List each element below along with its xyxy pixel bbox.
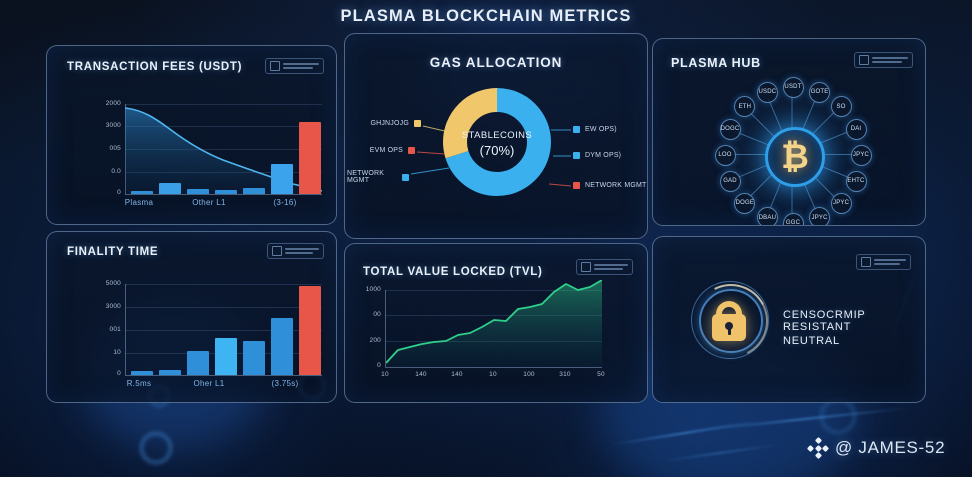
finality-bars xyxy=(125,284,322,375)
x-tick-label: 140 xyxy=(411,371,431,378)
hub-node-label: LOO xyxy=(718,152,731,158)
hub-node[interactable]: SO xyxy=(831,96,852,117)
hub-node-label: GAD xyxy=(723,178,737,184)
hub-node-label: DOGE xyxy=(736,200,754,206)
x-axis xyxy=(385,367,602,368)
hub-node[interactable]: EHTC xyxy=(846,171,867,192)
bar xyxy=(271,164,293,194)
legend-swatch xyxy=(402,174,409,181)
finality-time-title: FINALITY TIME xyxy=(67,246,158,258)
badge-lines xyxy=(283,63,319,69)
finality-time-badge[interactable] xyxy=(267,243,324,259)
tvl-title: TOTAL VALUE LOCKED (TVL) xyxy=(363,266,543,278)
y-tick-label: 0.0 xyxy=(87,168,121,175)
chart-badge-icon xyxy=(270,61,280,71)
x-tick-label: 100 xyxy=(519,371,539,378)
badge-lines xyxy=(874,259,906,265)
chart-badge-icon xyxy=(859,55,869,65)
bitcoin-icon: ₿ xyxy=(781,140,809,174)
transaction-fees-title: TRANSACTION FEES (USDT) xyxy=(67,61,242,73)
legend-label: EW OPS) xyxy=(585,126,617,133)
chart-badge-icon xyxy=(272,246,282,256)
bar xyxy=(159,370,181,375)
panel-transaction-fees: TRANSACTION FEES (USDT) 2000 3000 005 0.… xyxy=(46,45,337,225)
plasma-hub-title: PLASMA HUB xyxy=(671,56,761,70)
lock-graphic xyxy=(691,281,767,357)
legend-swatch xyxy=(408,147,415,154)
tvl-badge[interactable] xyxy=(576,259,633,275)
bg-ring xyxy=(820,398,856,434)
hub-node-label: USDT xyxy=(784,84,801,90)
badge-lines xyxy=(594,264,628,270)
legend-item-left[interactable]: NETWORK MGMT xyxy=(347,170,409,184)
bar xyxy=(299,122,321,194)
x-tick-label: Other L1 xyxy=(179,198,239,207)
bg-streak xyxy=(611,420,759,445)
y-tick-label: 00 xyxy=(351,311,381,318)
badge-lines xyxy=(872,57,908,63)
legend-label: GHJNJOJG xyxy=(370,120,409,127)
bar xyxy=(243,341,265,375)
y-tick-label: 001 xyxy=(87,326,121,333)
bar xyxy=(215,338,237,375)
bar xyxy=(215,190,237,194)
legend-label: DYM OPS) xyxy=(585,152,621,159)
y-tick-label: 2000 xyxy=(87,100,121,107)
tvl-area-chart xyxy=(386,280,602,367)
bar xyxy=(159,183,181,194)
x-axis xyxy=(125,375,322,376)
bar xyxy=(299,286,321,375)
y-tick-label: 0 xyxy=(351,362,381,369)
legend-item-right[interactable]: NETWORK MGMT xyxy=(573,182,647,189)
legend-swatch xyxy=(573,126,580,133)
hub-node-label: GOTE xyxy=(811,89,829,95)
hub-node[interactable]: GGC xyxy=(783,213,804,227)
y-tick-label: 5000 xyxy=(87,280,121,287)
hub-node[interactable]: DOGE xyxy=(734,193,755,214)
hub-node[interactable]: LOO xyxy=(715,145,736,166)
hub-node-label: GGC xyxy=(786,220,800,226)
hub-node-label: DAI xyxy=(851,126,862,132)
security-line-2: NEUTRAL xyxy=(783,335,840,347)
x-axis xyxy=(125,194,322,195)
y-tick-label: 0 xyxy=(87,189,121,196)
page-title: PLASMA BLOCKCHAIN METRICS xyxy=(0,7,972,26)
hub-node[interactable]: DBAU xyxy=(757,207,778,226)
watermark: @ JAMES-52 xyxy=(808,438,945,458)
hub-node[interactable]: JPYC xyxy=(831,193,852,214)
panel-finality-time: FINALITY TIME 5000 3000 001 10 0 R.5ms xyxy=(46,231,337,403)
dashboard-root: PLASMA BLOCKCHAIN METRICS TRANSACTION FE… xyxy=(0,0,972,477)
legend-label: NETWORK MGMT xyxy=(347,170,397,184)
hub-node[interactable]: DAI xyxy=(846,119,867,140)
hub-node-label: JPYC xyxy=(833,200,849,206)
hub-node-label: ETH xyxy=(739,104,752,110)
hub-node-label: USDC xyxy=(758,89,776,95)
x-tick-label: Oher L1 xyxy=(179,379,239,388)
hub-node[interactable]: JPYC xyxy=(809,207,830,226)
legend-swatch xyxy=(573,152,580,159)
x-tick-label: 10 xyxy=(375,371,395,378)
y-tick-label: 0 xyxy=(87,370,121,377)
legend-item-right[interactable]: EW OPS) xyxy=(573,126,617,133)
hub-node-label: EHTC xyxy=(847,178,864,184)
hub-node[interactable]: DOGC xyxy=(720,119,741,140)
y-tick-label: 3000 xyxy=(87,303,121,310)
bar xyxy=(131,191,153,194)
x-tick-label: 310 xyxy=(555,371,575,378)
x-tick-label: Plasma xyxy=(109,198,169,207)
legend-swatch xyxy=(414,120,421,127)
panel-security: CENSOCRMIP RESISTANT NEUTRAL xyxy=(652,236,926,403)
legend-label: NETWORK MGMT xyxy=(585,182,647,189)
bar xyxy=(187,351,209,375)
legend-label: EVM OPS xyxy=(370,147,403,154)
hub-node[interactable]: GAD xyxy=(720,171,741,192)
legend-leader-lines xyxy=(345,34,647,238)
fee-bars xyxy=(125,104,322,194)
legend-item-left[interactable]: EVM OPS xyxy=(359,147,415,154)
bar xyxy=(187,189,209,194)
bar xyxy=(271,318,293,375)
legend-swatch xyxy=(573,182,580,189)
legend-item-left[interactable]: GHJNJOJG xyxy=(359,120,421,127)
x-tick-label: 10 xyxy=(483,371,503,378)
security-line-1: CENSOCRMIP RESISTANT xyxy=(783,309,925,333)
watermark-handle: @ JAMES-52 xyxy=(835,438,945,458)
bitcoin-hub-center[interactable]: ₿ xyxy=(765,127,825,187)
binance-diamond-icon xyxy=(808,438,828,458)
hub-node-label: DOGC xyxy=(721,126,740,132)
hub-node[interactable]: GOTE xyxy=(809,82,830,103)
hub-node[interactable]: USDC xyxy=(757,82,778,103)
chart-badge-icon xyxy=(581,262,591,272)
security-badge[interactable] xyxy=(856,254,911,270)
x-tick-label: (3.75s) xyxy=(255,379,315,388)
bg-streak xyxy=(660,444,779,463)
hub-node-label: DBAU xyxy=(759,215,776,221)
panel-gas-allocation: GAS ALLOCATION STABLECOINS (70%) GHJNJOJ… xyxy=(344,33,648,239)
x-tick-label: (3-16) xyxy=(255,198,315,207)
badge-lines xyxy=(285,248,319,254)
bar xyxy=(131,371,153,375)
hub-node-label: JPYC xyxy=(853,152,869,158)
chart-badge-icon xyxy=(861,257,871,267)
hub-node[interactable]: JPYC xyxy=(851,145,872,166)
x-tick-label: 50 xyxy=(591,371,611,378)
x-tick-label: R.5ms xyxy=(109,379,169,388)
panel-tvl: TOTAL VALUE LOCKED (TVL) 1000 00 200 0 xyxy=(344,243,648,403)
y-tick-label: 10 xyxy=(87,349,121,356)
y-tick-label: 005 xyxy=(87,145,121,152)
transaction-fees-badge[interactable] xyxy=(265,58,324,74)
legend-item-right[interactable]: DYM OPS) xyxy=(573,152,621,159)
bg-streak xyxy=(700,407,909,431)
hub-node-label: JPYC xyxy=(812,215,828,221)
bar xyxy=(243,188,265,194)
lock-keyhole-stem xyxy=(728,327,731,335)
hub-node[interactable]: USDT xyxy=(783,77,804,98)
panel-plasma-hub: PLASMA HUB USDT GOTE SO DAI JPYC EHTC xyxy=(652,38,926,226)
bg-ring xyxy=(140,432,172,464)
y-tick-label: 200 xyxy=(351,337,381,344)
hub-node-label: SO xyxy=(837,104,846,110)
y-tick-label: 3000 xyxy=(87,122,121,129)
plasma-hub-badge[interactable] xyxy=(854,52,913,68)
x-tick-label: 140 xyxy=(447,371,467,378)
y-tick-label: 1000 xyxy=(351,286,381,293)
